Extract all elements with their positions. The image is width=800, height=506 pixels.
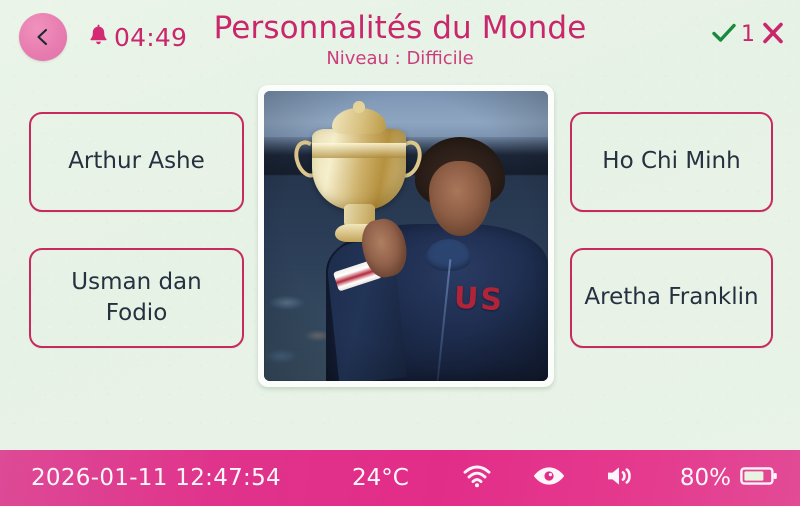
question-image-frame: US	[258, 85, 554, 387]
answer-option-top-left[interactable]: Arthur Ashe	[29, 112, 244, 212]
photo-jacket-text: US	[453, 281, 505, 319]
score-group: 1	[711, 16, 786, 54]
correct-count: 1	[741, 24, 755, 46]
battery-group: 80%	[680, 465, 778, 491]
header-bar: 04:49 Personnalités du Monde Niveau : Di…	[0, 0, 800, 84]
eye-icon[interactable]	[532, 464, 566, 492]
photo-trophy-finial	[353, 101, 364, 113]
battery-percent: 80%	[680, 467, 731, 490]
arrow-left-icon	[32, 26, 54, 48]
timer-group: 04:49	[88, 15, 187, 59]
answer-option-top-right[interactable]: Ho Chi Minh	[570, 112, 773, 212]
status-datetime: 2026-01-11 12:47:54	[31, 467, 281, 490]
answer-option-bottom-right[interactable]: Aretha Franklin	[570, 248, 773, 348]
status-bar: 2026-01-11 12:47:54 24°C	[0, 450, 800, 506]
photo-trophy-band	[312, 143, 406, 158]
status-temperature: 24°C	[352, 467, 409, 490]
quiz-app-screen: 04:49 Personnalités du Monde Niveau : Di…	[0, 0, 800, 506]
photo-trophy-cup	[312, 129, 406, 210]
battery-icon	[740, 465, 778, 491]
timer-text: 04:49	[114, 25, 187, 50]
check-icon	[711, 22, 737, 48]
status-icon-group	[462, 464, 634, 492]
volume-icon[interactable]	[606, 464, 634, 492]
wifi-icon[interactable]	[462, 464, 492, 492]
back-button[interactable]	[19, 13, 67, 61]
bell-icon	[88, 24, 109, 51]
question-image: US	[264, 91, 548, 381]
close-icon[interactable]	[760, 21, 786, 49]
answer-option-bottom-left[interactable]: Usman dan Fodio	[29, 248, 244, 348]
